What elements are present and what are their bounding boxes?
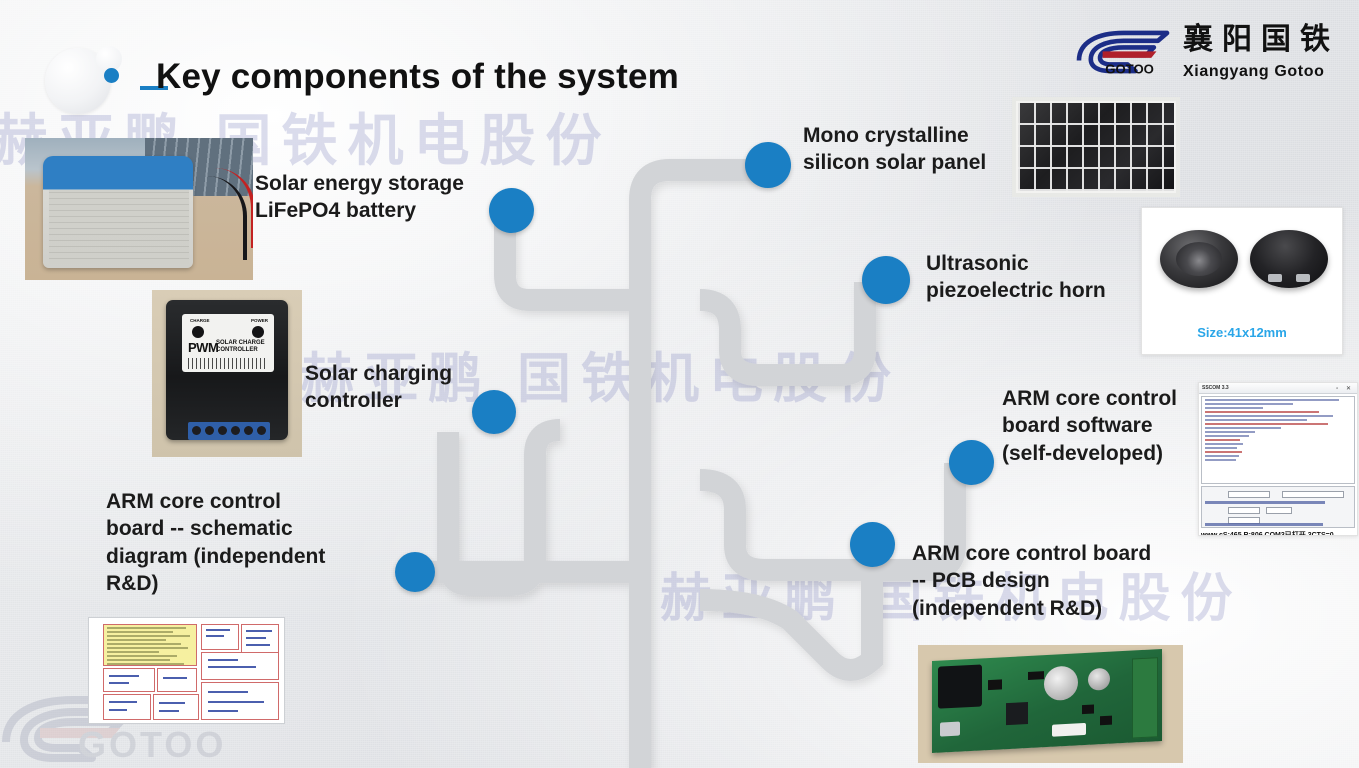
solar-panel-photo <box>1012 97 1180 197</box>
battery-photo-label-sticker <box>49 190 189 264</box>
lifepo4-battery-photo <box>25 138 253 280</box>
pcb-chip-2 <box>1082 705 1094 715</box>
label-horn-line2: piezoelectric horn <box>926 277 1161 304</box>
schematic-block-d <box>103 668 155 692</box>
label-solar-panel: Mono crystalline silicon solar panel <box>803 122 1033 177</box>
label-arm-pcb-line3: (independent R&D) <box>912 595 1212 622</box>
schematic-diagram-image <box>88 617 285 724</box>
label-charge-controller-line2: controller <box>305 387 525 414</box>
pcb-terminal-header <box>1132 657 1158 738</box>
node-arm-software[interactable] <box>949 440 994 485</box>
gf-monogram-icon: GOTOO <box>1073 29 1173 75</box>
label-solar-panel-line1: Mono crystalline <box>803 122 1033 149</box>
label-arm-schematic-line1: ARM core control <box>106 488 396 515</box>
brand-english-name: Xiangyang Gotoo <box>1183 64 1324 80</box>
pcb-electrolytic-capacitor <box>1088 668 1110 691</box>
label-charge-controller-line1: Solar charging <box>305 360 525 387</box>
label-horn-line1: Ultrasonic <box>926 250 1161 277</box>
controller-power-led-label: POWER <box>251 318 268 323</box>
label-battery-line2: LiFePO4 battery <box>255 197 505 224</box>
schematic-note-block <box>103 624 197 666</box>
decor-dot-blue <box>104 68 119 83</box>
piezo-horn-photo: Size:41x12mm <box>1141 207 1343 355</box>
schematic-block-h <box>201 682 279 720</box>
label-arm-software-line3: (self-developed) <box>1002 440 1212 467</box>
controller-body: CHARGE POWER PWM SOLAR CHARGE CONTROLLER <box>166 300 288 440</box>
horn-back-view <box>1250 230 1328 288</box>
label-arm-pcb-line1: ARM core control board <box>912 540 1212 567</box>
controller-charge-led <box>192 326 204 338</box>
controller-brand-text: SOLAR CHARGE CONTROLLER <box>216 340 265 354</box>
pcb-db9-connector <box>938 664 982 708</box>
solar-panel-cells <box>1016 101 1176 193</box>
label-arm-schematic-line4: R&D) <box>106 570 396 597</box>
label-charge-controller: Solar charging controller <box>305 360 525 415</box>
software-window-controls: ▫ ✕ <box>1336 385 1354 392</box>
software-output-lines <box>1202 397 1354 465</box>
software-control-panel <box>1201 486 1355 528</box>
controller-power-led <box>252 326 264 338</box>
pcb-coin-cell <box>1044 665 1078 701</box>
controller-faceplate: CHARGE POWER PWM SOLAR CHARGE CONTROLLER <box>182 314 274 372</box>
software-titlebar: SSCOM 3.3 ▫ ✕ <box>1199 383 1357 394</box>
label-horn: Ultrasonic piezoelectric horn <box>926 250 1161 305</box>
horn-front-view <box>1160 230 1238 288</box>
software-output-pane <box>1201 396 1355 484</box>
schematic-block-f <box>103 694 151 720</box>
node-horn[interactable] <box>862 256 910 304</box>
brand-chinese-name: 襄阳国铁 <box>1183 25 1339 55</box>
page-title: Key components of the system <box>156 57 679 97</box>
pcb-board-substrate <box>932 649 1162 753</box>
pcb-chip-1 <box>988 679 1002 690</box>
node-arm-pcb[interactable] <box>850 522 895 567</box>
schematic-block-c <box>201 652 279 680</box>
pcb-white-connector <box>1052 723 1086 737</box>
controller-charge-led-label: CHARGE <box>190 318 210 323</box>
label-battery-line1: Solar energy storage <box>255 170 505 197</box>
controller-status-icons <box>188 358 268 369</box>
pcb-chip-3 <box>1100 716 1112 726</box>
schematic-block-e <box>157 668 197 692</box>
controller-brand-line1: SOLAR CHARGE <box>216 340 265 347</box>
node-solar-panel[interactable] <box>745 142 791 188</box>
schematic-block-g <box>153 694 199 720</box>
label-arm-pcb-line2: -- PCB design <box>912 567 1212 594</box>
schematic-block-a <box>201 624 239 650</box>
horn-size-caption: Size:41x12mm <box>1142 325 1342 340</box>
brand-logo: GOTOO 襄阳国铁 Xiangyang Gotoo <box>1073 24 1339 80</box>
watermark-gotoo-text: GOTOO <box>78 724 226 766</box>
label-arm-schematic-line2: board -- schematic <box>106 515 396 542</box>
label-arm-schematic-line3: diagram (independent <box>106 543 396 570</box>
label-arm-pcb: ARM core control board -- PCB design (in… <box>912 540 1212 622</box>
pwm-controller-photo: CHARGE POWER PWM SOLAR CHARGE CONTROLLER <box>152 290 302 457</box>
software-status-line: www.cS:465 R:806 COM3已打开 3CTS=0 <box>1199 529 1357 536</box>
svg-text:GOTOO: GOTOO <box>1105 62 1154 75</box>
pcb-board-photo <box>918 645 1183 763</box>
label-arm-software-line1: ARM core control <box>1002 385 1212 412</box>
label-solar-panel-line2: silicon solar panel <box>803 149 1033 176</box>
decor-circle-large <box>45 48 111 114</box>
decor-circle-small <box>96 46 122 72</box>
pcb-usb-connector <box>940 722 960 737</box>
node-arm-schematic[interactable] <box>395 552 435 592</box>
controller-brand-line2: CONTROLLER <box>216 347 265 354</box>
label-battery: Solar energy storage LiFePO4 battery <box>255 170 505 225</box>
label-arm-software: ARM core control board software (self-de… <box>1002 385 1212 467</box>
pcb-chip-4 <box>1028 671 1044 680</box>
controller-pwm-text: PWM <box>188 340 218 355</box>
label-arm-software-line2: board software <box>1002 412 1212 439</box>
software-window-title: SSCOM 3.3 <box>1202 385 1229 391</box>
controller-terminal-block <box>188 422 270 440</box>
label-arm-schematic: ARM core control board -- schematic diag… <box>106 488 396 597</box>
pcb-microcontroller-ic <box>1006 702 1028 725</box>
serial-terminal-screenshot: SSCOM 3.3 ▫ ✕ www.cS:465 R:806 COM3已打开 3… <box>1198 382 1358 536</box>
